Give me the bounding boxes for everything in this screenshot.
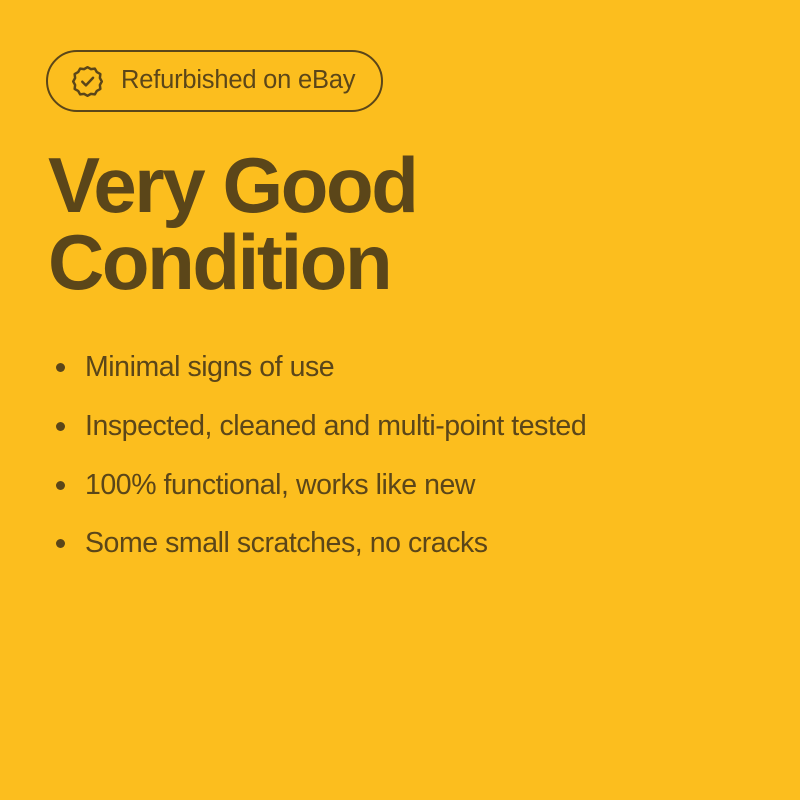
- bullet-dot-icon: [56, 363, 65, 372]
- list-item: Inspected, cleaned and multi-point teste…: [46, 410, 754, 444]
- page-title-line-2: Condition: [48, 224, 518, 301]
- page-title: Very Good Condition: [48, 147, 518, 301]
- list-item-label: Minimal signs of use: [85, 351, 334, 385]
- bullet-dot-icon: [56, 539, 65, 548]
- list-item-label: Some small scratches, no cracks: [85, 527, 488, 561]
- list-item: Some small scratches, no cracks: [46, 527, 754, 561]
- condition-feature-list: Minimal signs of use Inspected, cleaned …: [46, 351, 754, 561]
- bullet-dot-icon: [56, 481, 65, 490]
- page-title-line-1: Very Good: [48, 147, 518, 224]
- list-item: 100% functional, works like new: [46, 469, 754, 503]
- refurbished-condition-card: Refurbished on eBay Very Good Condition …: [0, 0, 800, 800]
- list-item-label: 100% functional, works like new: [85, 469, 475, 503]
- verified-rosette-check-icon: [71, 65, 104, 98]
- bullet-dot-icon: [56, 422, 65, 431]
- refurbished-badge: Refurbished on eBay: [46, 50, 383, 112]
- list-item-label: Inspected, cleaned and multi-point teste…: [85, 410, 586, 444]
- list-item: Minimal signs of use: [46, 351, 754, 385]
- refurbished-badge-label: Refurbished on eBay: [121, 68, 355, 94]
